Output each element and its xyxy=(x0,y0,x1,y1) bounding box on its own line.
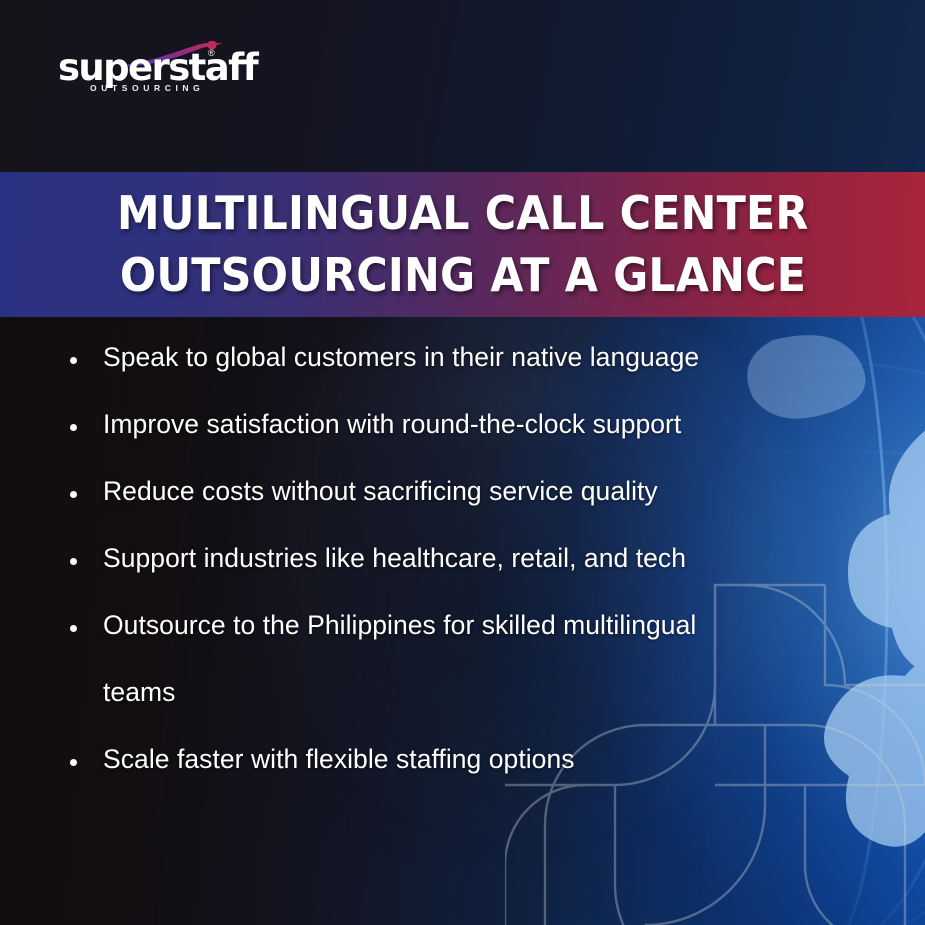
list-item: Support industries like healthcare, reta… xyxy=(0,541,925,608)
logo-registered-mark: ® xyxy=(208,48,215,58)
list-item: Reduce costs without sacrificing service… xyxy=(0,474,925,541)
list-item-text: teams xyxy=(103,675,175,711)
list-item-text: Speak to global customers in their nativ… xyxy=(103,340,699,376)
list-item-text: Reduce costs without sacrificing service… xyxy=(103,474,658,510)
bullet-dot-icon xyxy=(70,625,77,632)
benefits-list: Speak to global customers in their nativ… xyxy=(0,340,925,809)
bullet-dot-icon xyxy=(70,424,77,431)
title-line-1: MULTILINGUAL CALL CENTER xyxy=(117,183,809,244)
bullet-dot-icon xyxy=(70,558,77,565)
list-item-text: Outsource to the Philippines for skilled… xyxy=(103,608,696,644)
bullet-dot-icon xyxy=(70,357,77,364)
title-line-2: OUTSOURCING AT A GLANCE xyxy=(119,245,805,306)
list-item-continuation: teams xyxy=(0,675,925,742)
list-item: Improve satisfaction with round-the-cloc… xyxy=(0,407,925,474)
bullet-dot-icon xyxy=(70,491,77,498)
list-item-text: Improve satisfaction with round-the-cloc… xyxy=(103,407,681,443)
superstaff-logo[interactable]: superstaff ® OUTSOURCING xyxy=(58,44,233,94)
list-item-text: Support industries like healthcare, reta… xyxy=(103,541,686,577)
list-item: Speak to global customers in their nativ… xyxy=(0,340,925,407)
poster-canvas: superstaff ® OUTSOURCING MULTILINGUAL CA… xyxy=(0,0,925,925)
logo-wordmark: superstaff xyxy=(58,49,257,86)
bullet-dot-icon xyxy=(70,759,77,766)
list-item: Outsource to the Philippines for skilled… xyxy=(0,608,925,675)
list-item: Scale faster with flexible staffing opti… xyxy=(0,742,925,809)
list-item-text: Scale faster with flexible staffing opti… xyxy=(103,742,575,778)
title-banner: MULTILINGUAL CALL CENTER OUTSOURCING AT … xyxy=(0,172,925,317)
logo-tagline: OUTSOURCING xyxy=(90,84,204,93)
